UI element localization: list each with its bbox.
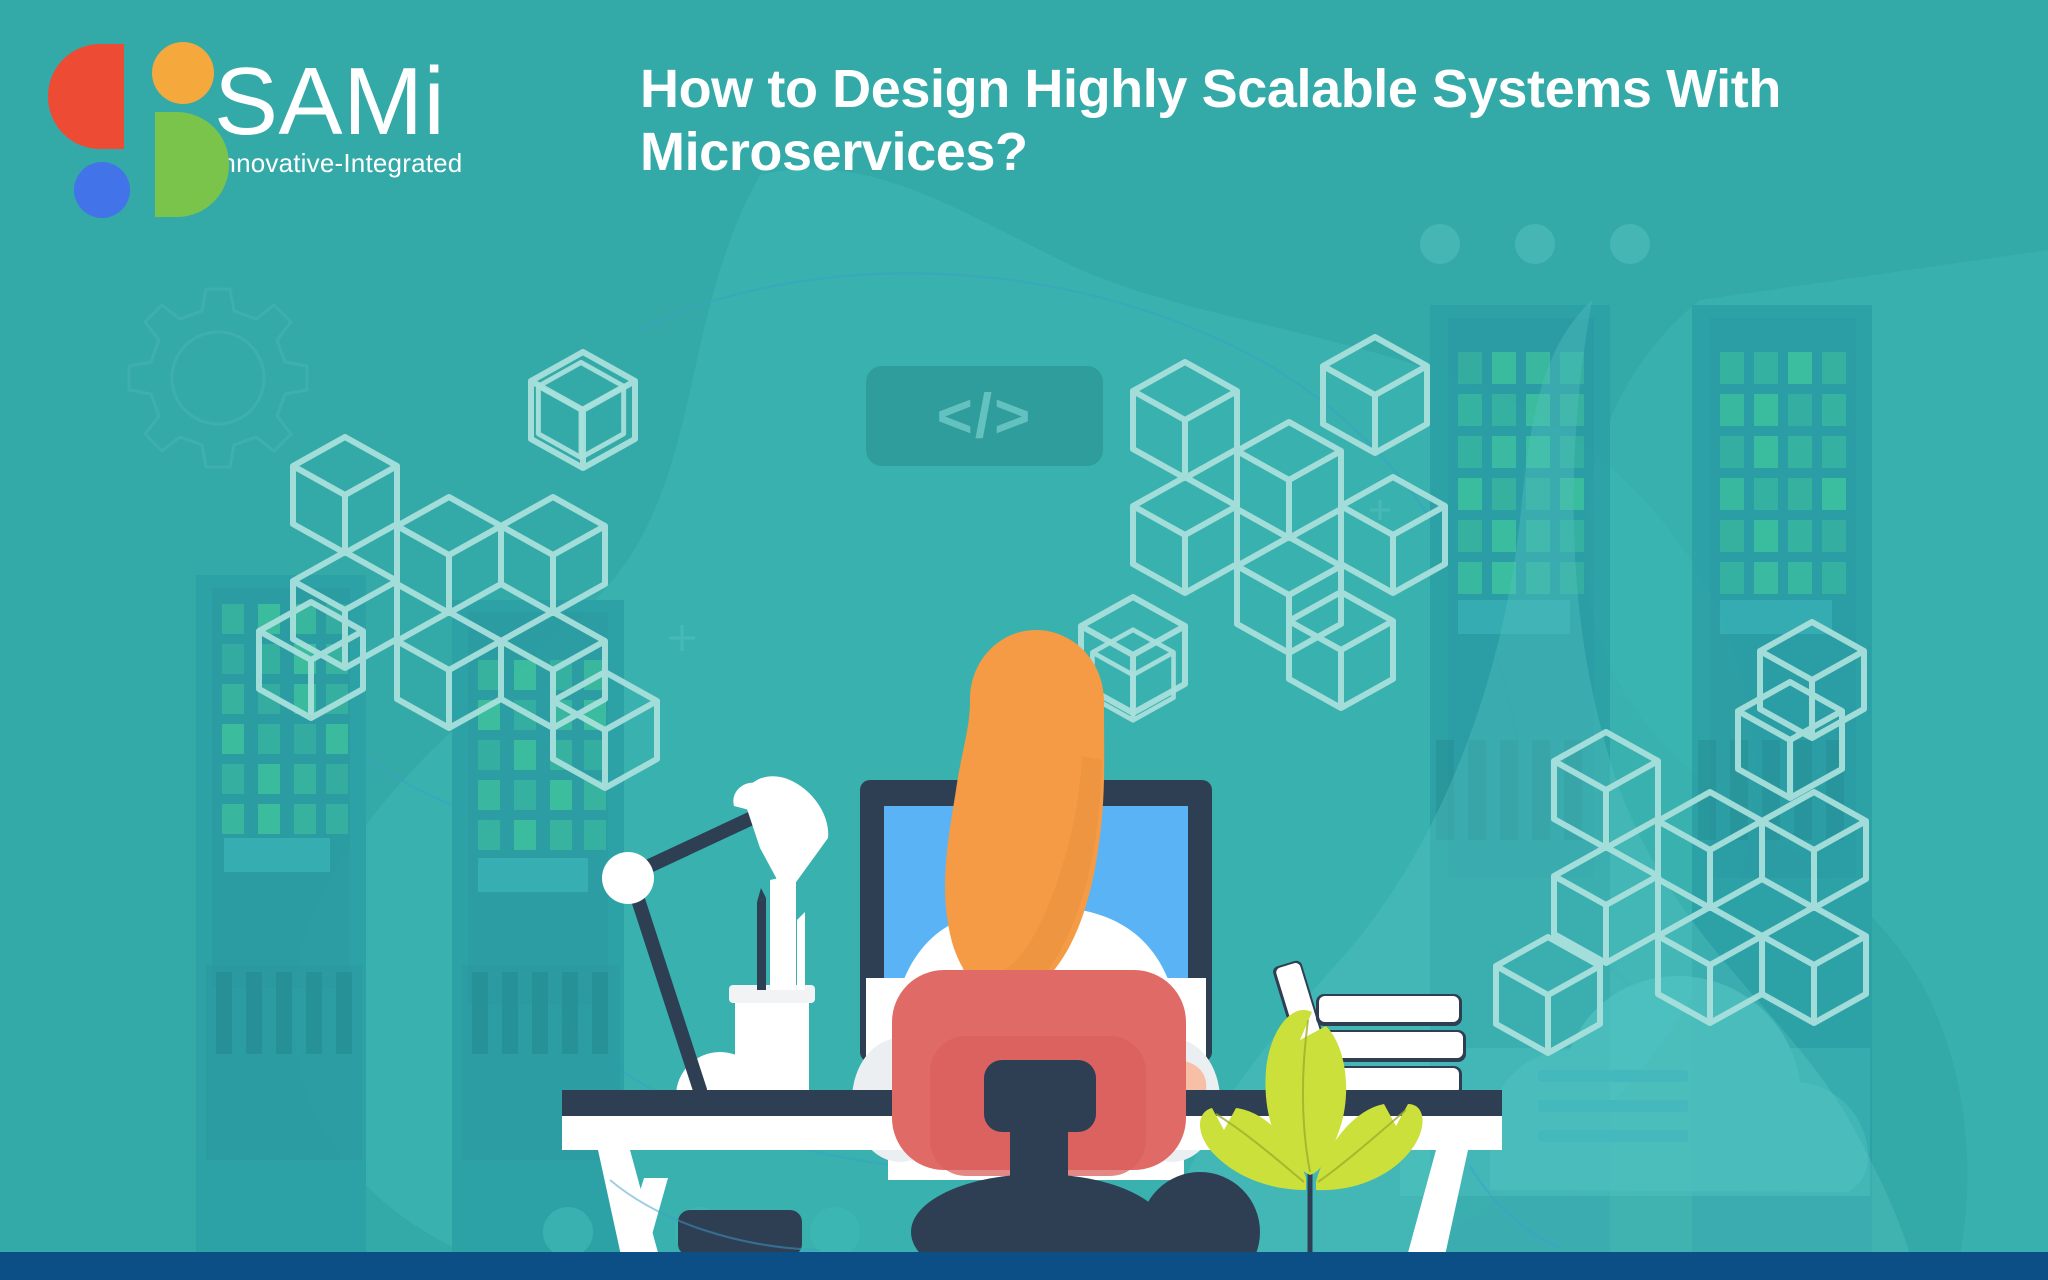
code-badge-label: </> [866,366,1103,466]
poster-canvas: </> SAMi Innovative-Integrated How to De… [0,0,2048,1280]
doc-lines [1538,1070,1688,1142]
footer-bar [0,1252,2048,1280]
background-artwork [0,0,2048,1280]
floor-box [678,1210,802,1256]
